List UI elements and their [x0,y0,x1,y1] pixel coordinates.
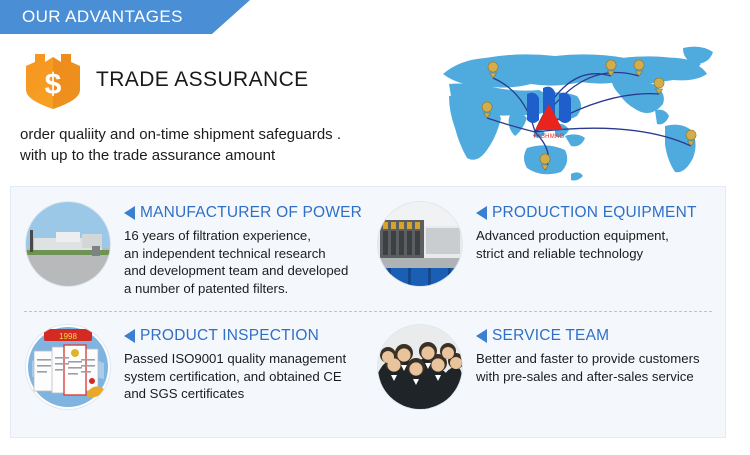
card-line: system certification, and obtained CE [124,368,346,386]
triangle-left-icon [476,206,487,220]
triangle-left-icon [476,329,487,343]
card-body: MANUFACTURER OF POWER 16 years of filtra… [124,202,362,297]
section-banner: OUR ADVANTAGES [0,0,260,34]
card-line: Advanced production equipment, [476,227,697,245]
trade-assurance-description: order qualiity and on-time shipment safe… [20,124,410,166]
card-body: PRODUCT INSPECTION Passed ISO9001 qualit… [124,325,346,403]
advantage-card-product-inspection[interactable]: 1998 [26,325,356,421]
card-body: SERVICE TEAM Better and faster to provid… [476,325,700,385]
trade-assurance-title: TRADE ASSURANCE [96,68,309,92]
card-description: Better and faster to provide customers w… [476,350,700,385]
production-line-photo [378,202,462,286]
svg-text:$: $ [45,68,62,101]
advantage-card-production-equipment[interactable]: PRODUCTION EQUIPMENT Advanced production… [378,202,708,298]
svg-text:1998: 1998 [59,332,77,341]
banner-title: OUR ADVANTAGES [22,0,183,34]
card-title: MANUFACTURER OF POWER [140,204,362,222]
svg-text:HIGHMAG: HIGHMAG [534,134,565,140]
card-line: Passed ISO9001 quality management [124,350,346,368]
card-line: Better and faster to provide customers [476,350,700,368]
ta-line-2: with up to the trade assurance amount [20,145,410,166]
triangle-left-icon [124,206,135,220]
card-line: with pre-sales and after-sales service [476,368,700,386]
factory-building-photo [26,202,110,286]
advantages-page: OUR ADVANTAGES $ TRADE ASSURANCE order q… [0,0,750,455]
world-shipping-map: HIGHMAG [415,32,745,184]
card-heading: SERVICE TEAM [476,325,700,347]
card-description: Passed ISO9001 quality management system… [124,350,346,403]
card-title: PRODUCT INSPECTION [140,327,319,345]
card-title: PRODUCTION EQUIPMENT [492,204,697,222]
advantage-card-service-team[interactable]: SERVICE TEAM Better and faster to provid… [378,325,708,421]
card-line: 16 years of filtration experience, [124,227,362,245]
shield-dollar-icon: $ [22,52,84,110]
card-title: SERVICE TEAM [492,327,609,345]
service-team-photo [378,325,462,409]
certificates-photo: 1998 [26,325,110,409]
card-line: a number of patented filters. [124,280,362,298]
card-body: PRODUCTION EQUIPMENT Advanced production… [476,202,697,262]
card-heading: MANUFACTURER OF POWER [124,202,362,224]
card-line: and development team and developed [124,262,362,280]
ta-line-1: order qualiity and on-time shipment safe… [20,124,410,145]
card-description: Advanced production equipment, strict an… [476,227,697,262]
triangle-left-icon [124,329,135,343]
card-line: strict and reliable technology [476,245,697,263]
card-description: 16 years of filtration experience, an in… [124,227,362,297]
row-divider [24,311,712,312]
advantage-card-manufacturer-of-power[interactable]: MANUFACTURER OF POWER 16 years of filtra… [26,202,356,298]
card-line: an independent technical research [124,245,362,263]
card-heading: PRODUCT INSPECTION [124,325,346,347]
card-line: and SGS certificates [124,385,346,403]
card-heading: PRODUCTION EQUIPMENT [476,202,697,224]
